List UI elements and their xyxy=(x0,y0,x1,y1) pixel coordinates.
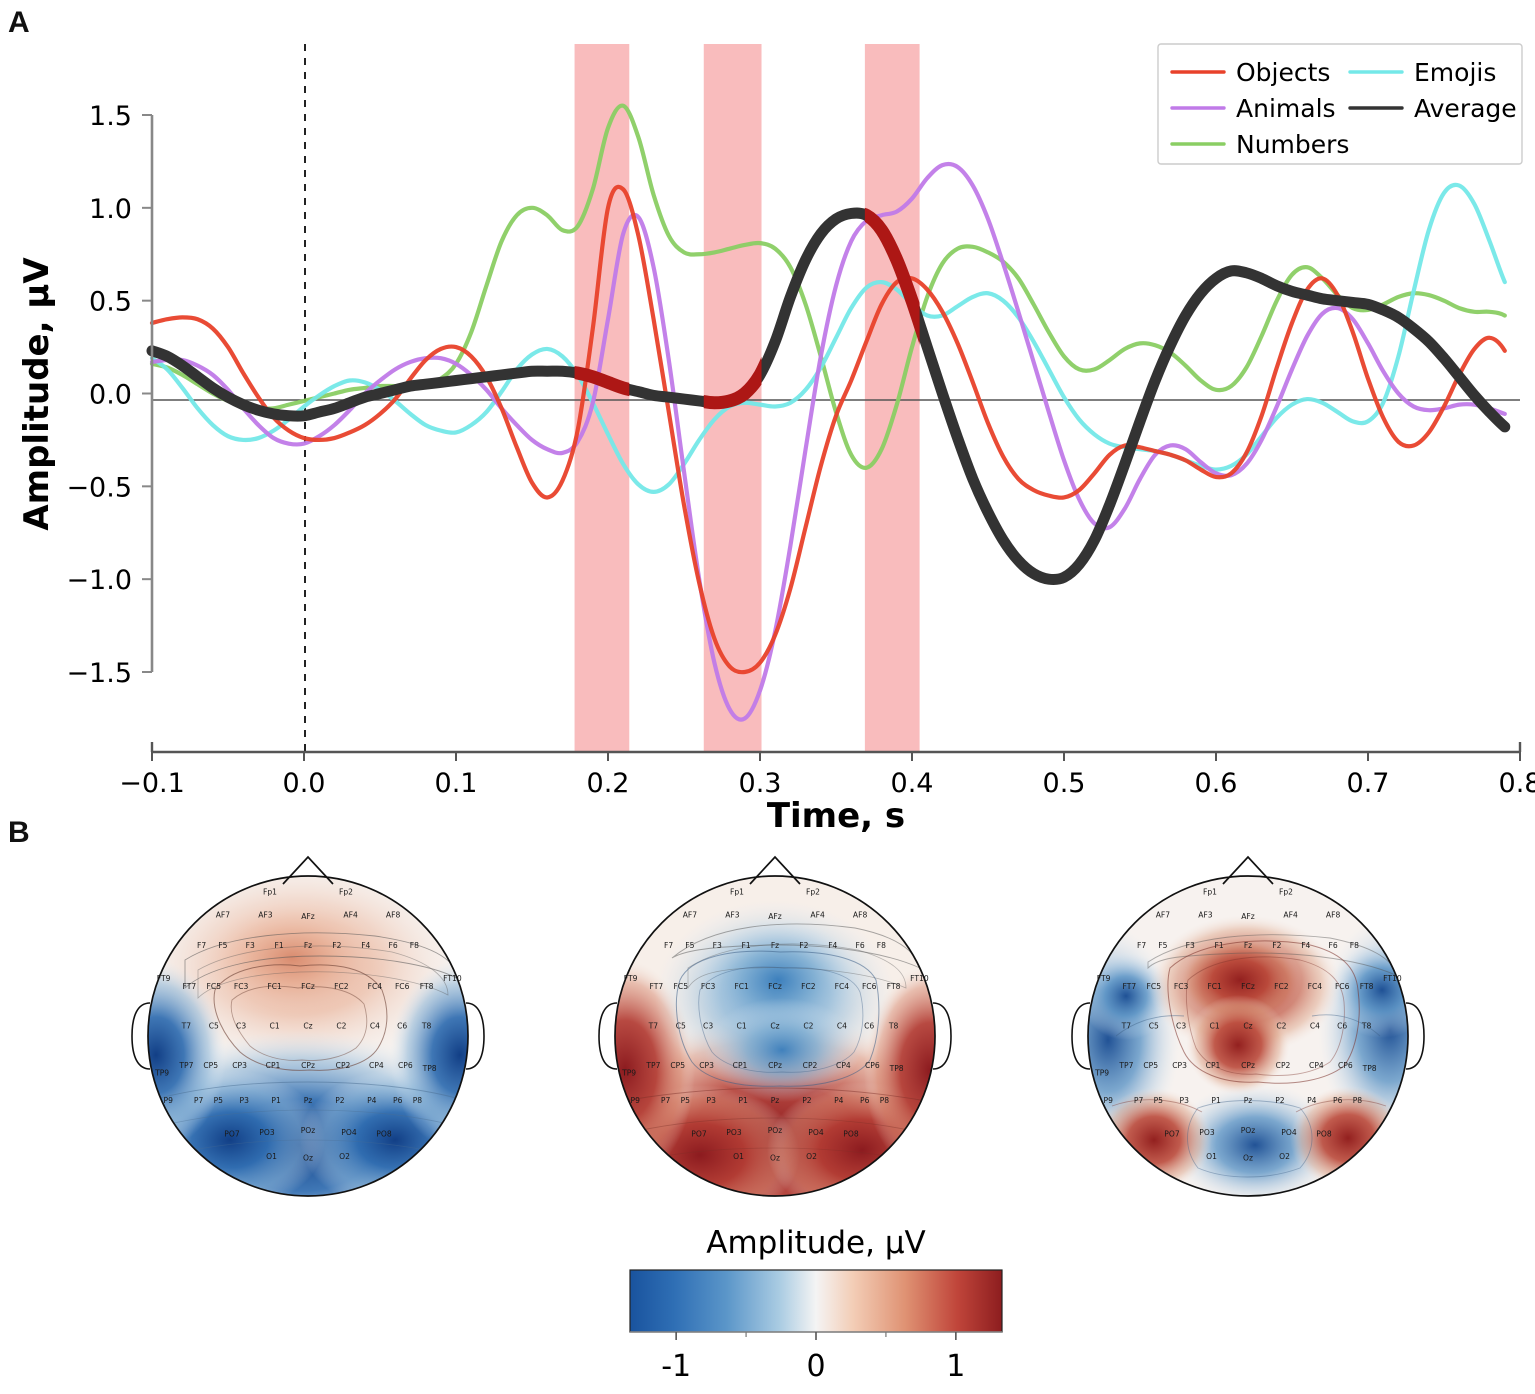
electrode-label: Cz xyxy=(1243,1021,1252,1030)
electrode-label: F7 xyxy=(1137,941,1146,950)
electrode-label: FC1 xyxy=(267,982,282,991)
electrode-label: C6 xyxy=(864,1021,874,1030)
electrode-label: P5 xyxy=(1154,1096,1164,1105)
electrode-label: CP5 xyxy=(1143,1061,1158,1070)
x-tick-label: −0.1 xyxy=(119,768,185,799)
electrode-label: FC5 xyxy=(207,982,222,991)
electrode-label: AFz xyxy=(768,912,782,921)
electrode-label: P8 xyxy=(1353,1096,1363,1105)
electrode-label: FC2 xyxy=(1274,982,1289,991)
y-tick-label: 1.5 xyxy=(89,101,132,132)
electrode-label: FC1 xyxy=(1207,982,1222,991)
y-axis-ticks: 1.51.00.50.0−0.5−1.0−1.5 xyxy=(66,101,152,689)
colorbar-gradient xyxy=(630,1270,1002,1332)
electrode-label: PO3 xyxy=(1199,1128,1215,1137)
electrode-label: F4 xyxy=(361,941,370,950)
topomap-1: Fp1Fp2AF7AF3AFzAF4AF8F7F5F3F1FzF2F4F6F8F… xyxy=(86,857,530,1260)
electrode-label: POz xyxy=(768,1126,783,1135)
electrode-label: CP5 xyxy=(670,1061,685,1070)
electrode-label: F5 xyxy=(218,941,227,950)
electrode-label: F5 xyxy=(685,941,694,950)
electrode-label: C3 xyxy=(1176,1021,1186,1030)
electrode-label: CP5 xyxy=(203,1061,218,1070)
colorbar-tick-label: -1 xyxy=(661,1349,691,1384)
topomap-2: Fp1Fp2AF7AF3AFzAF4AF8F7F5F3F1FzF2F4F6F8F… xyxy=(555,857,996,1265)
electrode-label: T8 xyxy=(1361,1021,1372,1030)
x-tick-label: 0.8 xyxy=(1499,768,1535,799)
x-tick-label: 0.5 xyxy=(1043,768,1086,799)
electrode-label: FCz xyxy=(1241,982,1255,991)
topomap-3: Fp1Fp2AF7AF3AFzAF4AF8F7F5F3F1FzF2F4F6F8F… xyxy=(1036,857,1462,1207)
electrode-label: TP8 xyxy=(422,1064,437,1073)
electrode-label: TP7 xyxy=(645,1061,660,1070)
electrode-label: C1 xyxy=(1210,1021,1220,1030)
electrode-label: C2 xyxy=(1276,1021,1286,1030)
electrode-label: C4 xyxy=(1310,1021,1320,1030)
electrode-label: TP8 xyxy=(889,1064,904,1073)
electrode-label: C4 xyxy=(837,1021,847,1030)
electrode-label: C5 xyxy=(676,1021,686,1030)
electrode-label: CP1 xyxy=(266,1061,281,1070)
electrode-label: C1 xyxy=(737,1021,747,1030)
electrode-label: AF8 xyxy=(1326,910,1341,919)
electrode-label: P4 xyxy=(367,1096,377,1105)
electrode-label: F2 xyxy=(332,941,341,950)
electrode-label: FC6 xyxy=(395,982,410,991)
electrode-label: CPz xyxy=(1241,1061,1255,1070)
colorbar-ticks: -101 xyxy=(661,1332,965,1384)
electrode-label: CP6 xyxy=(1338,1061,1353,1070)
x-axis-ticks: −0.10.00.10.20.30.40.50.60.70.8 xyxy=(119,752,1535,799)
electrode-label: FCz xyxy=(768,982,782,991)
electrode-label: P3 xyxy=(1179,1096,1189,1105)
x-tick-label: 0.0 xyxy=(283,768,326,799)
electrode-label: F8 xyxy=(877,941,886,950)
electrode-label: FT9 xyxy=(624,974,638,983)
electrode-label: T8 xyxy=(421,1021,432,1030)
electrode-label: P8 xyxy=(413,1096,423,1105)
electrode-label: F1 xyxy=(274,941,283,950)
electrode-label: AF4 xyxy=(343,910,358,919)
electrode-label: FT10 xyxy=(910,974,929,983)
electrode-label: FCz xyxy=(301,982,315,991)
electrode-label: C6 xyxy=(1337,1021,1347,1030)
electrode-label: PO3 xyxy=(259,1128,275,1137)
electrode-label: F3 xyxy=(713,941,722,950)
x-tick-label: 0.2 xyxy=(587,768,630,799)
legend-label-emojis[interactable]: Emojis xyxy=(1414,58,1496,87)
electrode-label: AF4 xyxy=(1283,910,1298,919)
electrode-label: AF4 xyxy=(810,910,825,919)
electrode-label: CP6 xyxy=(398,1061,413,1070)
electrode-label: AF7 xyxy=(683,910,698,919)
electrode-label: C5 xyxy=(1149,1021,1159,1030)
legend-label-animals[interactable]: Animals xyxy=(1236,94,1336,123)
electrode-label: FT7 xyxy=(650,982,664,991)
electrode-label: F8 xyxy=(410,941,419,950)
electrode-label: F1 xyxy=(1214,941,1223,950)
electrode-label: F5 xyxy=(1158,941,1167,950)
electrode-label: FC1 xyxy=(734,982,749,991)
electrode-label: FT8 xyxy=(887,982,901,991)
electrode-label: Fp1 xyxy=(730,888,744,897)
electrode-label: FC3 xyxy=(701,982,716,991)
electrode-label: AF8 xyxy=(386,910,401,919)
electrode-label: AF7 xyxy=(216,910,231,919)
x-tick-label: 0.1 xyxy=(435,768,478,799)
electrode-label: P7 xyxy=(1134,1096,1144,1105)
electrode-label: P3 xyxy=(239,1096,249,1105)
electrode-label: F7 xyxy=(197,941,206,950)
electrode-label: FC5 xyxy=(674,982,689,991)
electrode-label: P4 xyxy=(1307,1096,1317,1105)
y-tick-label: 0.5 xyxy=(89,287,132,318)
electrode-label: P9 xyxy=(163,1096,173,1105)
electrode-label: Fp2 xyxy=(1279,888,1293,897)
electrode-label: Pz xyxy=(304,1096,313,1105)
electrode-label: AF3 xyxy=(258,910,273,919)
electrode-label: Fp1 xyxy=(263,888,277,897)
electrode-label: PO4 xyxy=(1281,1128,1297,1137)
electrode-label: C1 xyxy=(270,1021,280,1030)
electrode-label: P6 xyxy=(860,1096,870,1105)
electrode-label: T7 xyxy=(1121,1021,1132,1030)
electrode-label: PO4 xyxy=(341,1128,357,1137)
electrode-label: CP4 xyxy=(1309,1061,1324,1070)
electrode-label: P9 xyxy=(630,1096,640,1105)
electrode-label: F4 xyxy=(828,941,837,950)
electrode-label: FT8 xyxy=(420,982,434,991)
electrode-label: FT7 xyxy=(183,982,197,991)
electrode-label: AF3 xyxy=(725,910,740,919)
electrode-label: P8 xyxy=(880,1096,890,1105)
electrode-label: CPz xyxy=(301,1061,315,1070)
electrode-label: O2 xyxy=(1279,1152,1290,1161)
electrode-label: C6 xyxy=(397,1021,407,1030)
electrode-label: Fp1 xyxy=(1203,888,1217,897)
electrode-label: P5 xyxy=(214,1096,224,1105)
electrode-label: CP1 xyxy=(733,1061,748,1070)
colorbar: Amplitude, µV -101 xyxy=(630,1225,1002,1384)
electrode-label: CP3 xyxy=(699,1061,714,1070)
electrode-label: F2 xyxy=(799,941,808,950)
electrode-label: CP2 xyxy=(1276,1061,1291,1070)
significance-band-3 xyxy=(865,44,920,752)
topography-panel: Fp1Fp2AF7AF3AFzAF4AF8F7F5F3F1FzF2F4F6F8F… xyxy=(0,840,1535,1394)
electrode-label: C4 xyxy=(370,1021,380,1030)
electrode-label: CP1 xyxy=(1206,1061,1221,1070)
electrode-label: O2 xyxy=(339,1152,350,1161)
electrode-label: Cz xyxy=(770,1021,779,1030)
electrode-label: C3 xyxy=(236,1021,246,1030)
electrode-label: CP2 xyxy=(336,1061,351,1070)
electrode-label: Oz xyxy=(1243,1154,1253,1163)
y-tick-label: 0.0 xyxy=(89,380,132,411)
legend-label-numbers[interactable]: Numbers xyxy=(1236,130,1349,159)
x-tick-label: 0.6 xyxy=(1195,768,1238,799)
electrode-label: C3 xyxy=(703,1021,713,1030)
electrode-label: Pz xyxy=(771,1096,780,1105)
electrode-label: PO7 xyxy=(1164,1129,1180,1138)
electrode-label: PO8 xyxy=(376,1129,392,1138)
y-tick-label: −0.5 xyxy=(66,472,132,503)
electrode-label: Fp2 xyxy=(339,888,353,897)
electrode-label: Fp2 xyxy=(806,888,820,897)
electrode-label: FC4 xyxy=(1308,982,1323,991)
electrode-label: P1 xyxy=(271,1096,281,1105)
x-tick-label: 0.3 xyxy=(739,768,782,799)
electrode-label: FC3 xyxy=(1174,982,1189,991)
colorbar-title: Amplitude, µV xyxy=(706,1225,926,1261)
electrode-label: TP7 xyxy=(1118,1061,1133,1070)
electrode-label: Fz xyxy=(771,941,779,950)
electrode-label: PO3 xyxy=(726,1128,742,1137)
electrode-label: O1 xyxy=(1206,1152,1217,1161)
electrode-label: AF8 xyxy=(853,910,868,919)
x-tick-label: 0.7 xyxy=(1347,768,1390,799)
electrode-label: FT8 xyxy=(1360,982,1374,991)
series-line-objects xyxy=(152,187,1505,672)
electrode-label: FT7 xyxy=(1123,982,1137,991)
electrode-label: P4 xyxy=(834,1096,844,1105)
electrode-label: F1 xyxy=(741,941,750,950)
electrode-label: FC2 xyxy=(801,982,816,991)
electrode-label: AF7 xyxy=(1156,910,1171,919)
electrode-label: F8 xyxy=(1350,941,1359,950)
electrode-label: FT10 xyxy=(443,974,462,983)
electrode-label: P5 xyxy=(681,1096,691,1105)
electrode-label: PO8 xyxy=(1316,1129,1332,1138)
electrode-label: T8 xyxy=(888,1021,899,1030)
erp-figure-panel: −0.10.00.10.20.30.40.50.60.70.8 1.51.00.… xyxy=(0,0,1535,845)
electrode-label: Cz xyxy=(303,1021,312,1030)
electrode-label: F6 xyxy=(855,941,864,950)
electrode-label: POz xyxy=(301,1126,316,1135)
y-tick-label: −1.5 xyxy=(66,658,132,689)
electrode-label: F3 xyxy=(246,941,255,950)
electrode-label: PO7 xyxy=(224,1129,240,1138)
colorbar-tick-label: 0 xyxy=(806,1349,825,1384)
y-tick-label: −1.0 xyxy=(66,565,132,596)
electrode-label: C2 xyxy=(803,1021,813,1030)
electrode-label: TP8 xyxy=(1362,1064,1377,1073)
electrode-label: F3 xyxy=(1186,941,1195,950)
electrode-label: FC4 xyxy=(368,982,383,991)
electrode-label: PO4 xyxy=(808,1128,824,1137)
electrode-label: Oz xyxy=(303,1154,313,1163)
electrode-label: F7 xyxy=(664,941,673,950)
electrode-label: T7 xyxy=(181,1021,192,1030)
electrode-label: O2 xyxy=(806,1152,817,1161)
electrode-label: POz xyxy=(1241,1126,1256,1135)
electrode-label: Oz xyxy=(770,1154,780,1163)
electrode-label: P1 xyxy=(1211,1096,1221,1105)
electrode-label: FC6 xyxy=(862,982,877,991)
electrode-label: F2 xyxy=(1272,941,1281,950)
electrode-label: F6 xyxy=(388,941,397,950)
electrode-label: CP2 xyxy=(803,1061,818,1070)
electrode-label: CP4 xyxy=(836,1061,851,1070)
electrode-label: FC3 xyxy=(234,982,249,991)
y-axis-title: Amplitude, µV xyxy=(17,257,57,531)
electrode-label: O1 xyxy=(266,1152,277,1161)
electrode-label: FT10 xyxy=(1383,974,1402,983)
electrode-label: P9 xyxy=(1103,1096,1113,1105)
electrode-label: AFz xyxy=(301,912,315,921)
legend-label-objects[interactable]: Objects xyxy=(1236,58,1330,87)
electrode-label: FT9 xyxy=(1097,974,1111,983)
electrode-label: TP7 xyxy=(178,1061,193,1070)
electrode-label: FC5 xyxy=(1147,982,1162,991)
electrode-label: CP6 xyxy=(865,1061,880,1070)
electrode-label: CP3 xyxy=(232,1061,247,1070)
electrode-label: PO7 xyxy=(691,1129,707,1138)
electrode-label: TP9 xyxy=(154,1069,169,1078)
erp-series-layer xyxy=(152,106,1505,720)
electrode-label: Fz xyxy=(304,941,312,950)
electrode-label: O1 xyxy=(733,1152,744,1161)
electrode-label: CPz xyxy=(768,1061,782,1070)
electrode-label: AFz xyxy=(1241,912,1255,921)
x-axis-title: Time, s xyxy=(767,796,905,836)
topomaps-group: Fp1Fp2AF7AF3AFzAF4AF8F7F5F3F1FzF2F4F6F8F… xyxy=(0,840,1535,1394)
electrode-label: P7 xyxy=(661,1096,671,1105)
electrode-label: AF3 xyxy=(1198,910,1213,919)
electrode-label: P1 xyxy=(738,1096,748,1105)
electrode-label: P6 xyxy=(393,1096,403,1105)
electrode-label: F6 xyxy=(1328,941,1337,950)
electrode-label: CP4 xyxy=(369,1061,384,1070)
electrode-label: TP9 xyxy=(621,1069,636,1078)
electrode-label: TP9 xyxy=(1094,1069,1109,1078)
y-tick-label: 1.0 xyxy=(89,194,132,225)
electrode-label: FC2 xyxy=(334,982,349,991)
electrode-label: FC4 xyxy=(835,982,850,991)
x-axis xyxy=(152,742,1520,752)
electrode-label: FC6 xyxy=(1335,982,1350,991)
colorbar-tick-label: 1 xyxy=(946,1349,965,1384)
electrode-label: P3 xyxy=(706,1096,716,1105)
electrode-label: P2 xyxy=(1275,1096,1285,1105)
electrode-label: C2 xyxy=(336,1021,346,1030)
electrode-label: CP3 xyxy=(1172,1061,1187,1070)
electrode-label: Fz xyxy=(1244,941,1252,950)
electrode-label: P7 xyxy=(194,1096,204,1105)
electrode-label: T7 xyxy=(648,1021,659,1030)
erp-chart: −0.10.00.10.20.30.40.50.60.70.8 1.51.00.… xyxy=(0,0,1535,845)
electrode-label: P6 xyxy=(1333,1096,1343,1105)
electrode-label: FT9 xyxy=(157,974,171,983)
electrode-label: Pz xyxy=(1244,1096,1253,1105)
legend-label-average[interactable]: Average xyxy=(1414,94,1517,123)
x-tick-label: 0.4 xyxy=(891,768,934,799)
electrode-label: P2 xyxy=(335,1096,345,1105)
electrode-label: P2 xyxy=(802,1096,812,1105)
electrode-label: PO8 xyxy=(843,1129,859,1138)
electrode-label: C5 xyxy=(209,1021,219,1030)
electrode-label: F4 xyxy=(1301,941,1310,950)
